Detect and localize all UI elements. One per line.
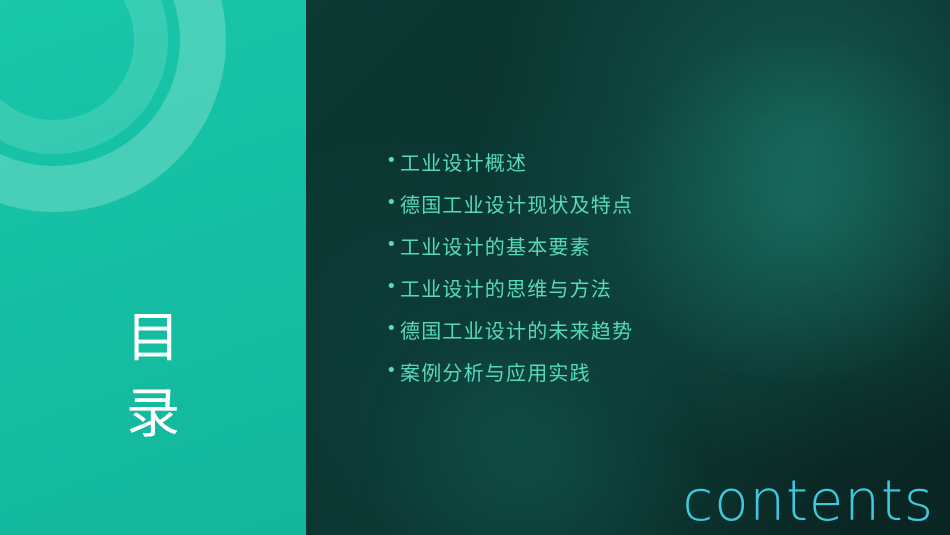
panel-title: 目 录	[0, 300, 306, 451]
bullet-icon: •	[386, 362, 400, 380]
list-item[interactable]: • 工业设计的思维与方法	[386, 266, 866, 308]
toc-item-label: 工业设计的思维与方法	[400, 273, 612, 302]
list-item[interactable]: • 工业设计概述	[386, 140, 866, 182]
presentation-slide: 目 录 • 工业设计概述 • 德国工业设计现状及特点 • 工业设计的基本要素 •…	[0, 0, 950, 535]
bullet-icon: •	[386, 236, 400, 254]
table-of-contents-list: • 工业设计概述 • 德国工业设计现状及特点 • 工业设计的基本要素 • 工业设…	[386, 140, 866, 392]
list-item[interactable]: • 德国工业设计现状及特点	[386, 182, 866, 224]
panel-title-line-2: 录	[0, 376, 306, 452]
list-item[interactable]: • 案例分析与应用实践	[386, 350, 866, 392]
left-accent-panel: 目 录	[0, 0, 306, 535]
content-panel: • 工业设计概述 • 德国工业设计现状及特点 • 工业设计的基本要素 • 工业设…	[306, 0, 950, 535]
toc-item-label: 工业设计概述	[400, 147, 527, 176]
bullet-icon: •	[386, 320, 400, 338]
list-item[interactable]: • 工业设计的基本要素	[386, 224, 866, 266]
toc-item-label: 德国工业设计的未来趋势	[400, 315, 633, 344]
toc-item-label: 德国工业设计现状及特点	[400, 189, 633, 218]
bullet-icon: •	[386, 194, 400, 212]
toc-item-label: 工业设计的基本要素	[400, 231, 591, 260]
bullet-icon: •	[386, 278, 400, 296]
toc-item-label: 案例分析与应用实践	[400, 357, 591, 386]
list-item[interactable]: • 德国工业设计的未来趋势	[386, 308, 866, 350]
panel-title-line-1: 目	[0, 300, 306, 376]
contents-wordmark: contents	[682, 471, 934, 533]
bullet-icon: •	[386, 152, 400, 170]
